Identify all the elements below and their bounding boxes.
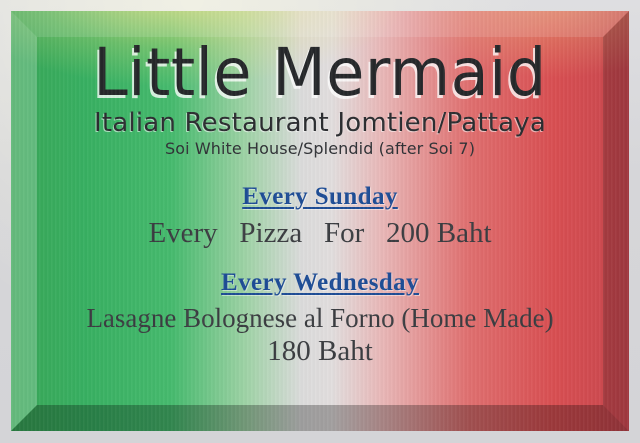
restaurant-name-headline: Little Mermaid	[37, 41, 603, 105]
offer-day-label-sunday: Every Sunday	[242, 184, 398, 209]
offer-day-label-wednesday: Every Wednesday	[221, 270, 419, 295]
offer-block-wednesday: Every Wednesday Lasagne Bolognese al For…	[37, 270, 603, 366]
sign-canvas: Little Mermaid Italian Restaurant Jomtie…	[0, 0, 640, 443]
restaurant-address: Soi White House/Splendid (after Soi 7)	[37, 141, 603, 158]
restaurant-subtitle: Italian Restaurant Jomtien/Pattaya	[37, 110, 603, 137]
sign-content-area: Little Mermaid Italian Restaurant Jomtie…	[37, 37, 603, 405]
sign-board: Little Mermaid Italian Restaurant Jomtie…	[11, 11, 629, 431]
offer-block-sunday: Every Sunday Every Pizza For 200 Baht	[37, 184, 603, 248]
offer-price-wednesday: 180 Baht	[37, 336, 603, 366]
offer-detail-sunday: Every Pizza For 200 Baht	[37, 218, 603, 248]
offer-detail-wednesday: Lasagne Bolognese al Forno (Home Made)	[37, 304, 603, 332]
